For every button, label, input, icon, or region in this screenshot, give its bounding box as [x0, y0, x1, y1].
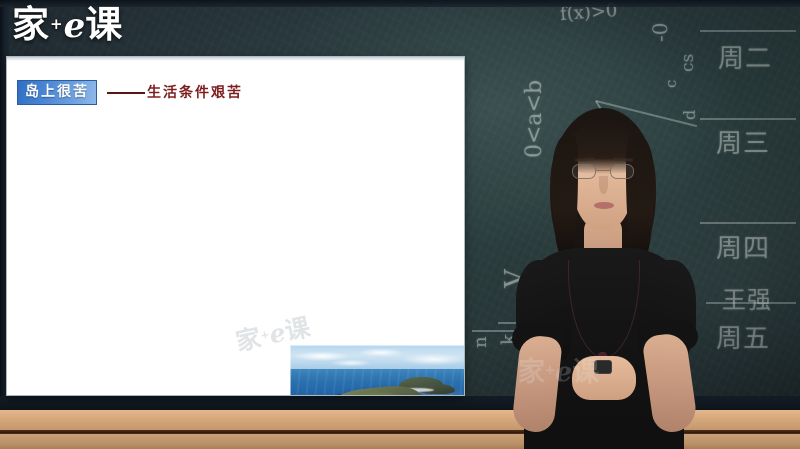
slide-heading: 岛上很苦 生活条件艰苦 — [17, 80, 243, 105]
slide-subheading: 生活条件艰苦 — [147, 86, 243, 100]
video-watermark-char2: 课 — [572, 350, 599, 389]
photo-border — [290, 345, 464, 395]
video-watermark-e: e — [555, 357, 572, 388]
video-watermark: 家 + e 课 — [518, 350, 599, 389]
slide-watermark-char1: 家 — [232, 318, 264, 358]
teacher-figure — [498, 108, 708, 449]
brand-logo-char1: 家 — [12, 6, 49, 43]
teacher-mouth — [594, 202, 614, 209]
teacher-hair-right — [626, 134, 654, 266]
brand-logo-char2: 课 — [85, 6, 122, 43]
brand-logo-e: e — [64, 9, 86, 43]
slide-topic-tag: 岛上很苦 — [17, 80, 97, 105]
slide-em-dash — [107, 92, 145, 94]
teacher-nose — [599, 176, 608, 194]
glasses-bridge — [596, 170, 610, 171]
classroom-video-frame: 周二周三周四王强周五0<a<bf(x)>0-0cscdVnkn 家 + e 课 … — [0, 0, 800, 449]
brand-logo: 家 + e 课 — [12, 6, 122, 43]
island-photo — [290, 345, 464, 395]
video-watermark-char1: 家 — [518, 350, 545, 389]
slide-top-sheen — [7, 57, 464, 61]
video-watermark-plus: + — [545, 363, 555, 377]
glasses-lens-left — [572, 164, 596, 179]
brand-logo-plus: + — [50, 17, 63, 32]
presentation-slide[interactable]: 岛上很苦 生活条件艰苦 家 + e 课 — [7, 57, 464, 395]
glasses-lens-right — [610, 164, 634, 179]
